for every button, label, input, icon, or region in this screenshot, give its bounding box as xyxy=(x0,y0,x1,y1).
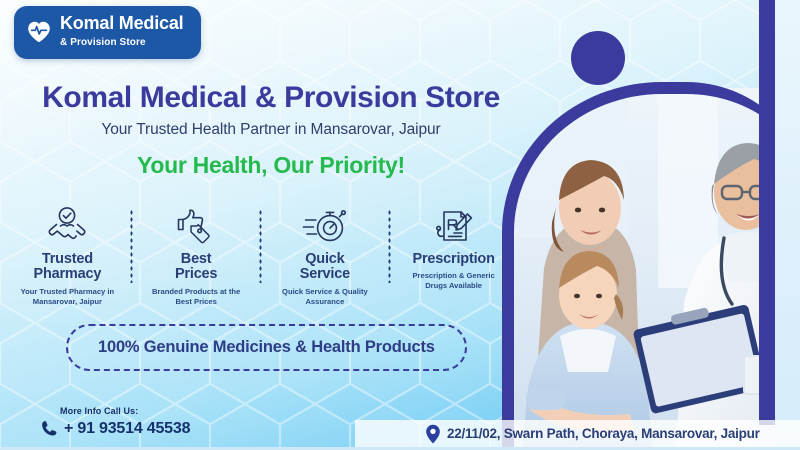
page-subtitle: Your Trusted Health Partner in Mansarova… xyxy=(16,121,526,139)
stopwatch-icon xyxy=(270,204,381,248)
thumbs-up-price-tag-icon xyxy=(141,204,252,248)
feature-desc-line2: Assurance xyxy=(305,297,344,306)
logo-line2: & Provision Store xyxy=(60,37,146,48)
feature-desc-line2: Drugs Available xyxy=(425,281,482,290)
feature-desc: Quick Service & Quality Assurance xyxy=(270,287,381,307)
feature-best-prices: Best Prices Branded Products at the Best… xyxy=(137,204,256,306)
store-address: 22/11/02, Swarn Path, Choraya, Mansarova… xyxy=(447,426,760,441)
handshake-check-icon xyxy=(12,204,123,248)
feature-divider xyxy=(127,208,137,284)
feature-title-line1: Prescription xyxy=(413,251,495,267)
feature-desc: Branded Products at the Best Prices xyxy=(141,287,252,307)
decorative-right-bar xyxy=(759,0,775,425)
call-us-block: More Info Call Us: + 91 93514 45538 xyxy=(40,406,190,438)
logo-line1: Komal Medical xyxy=(60,13,183,33)
feature-title: Trusted Pharmacy xyxy=(12,252,123,283)
feature-trusted-pharmacy: Trusted Pharmacy Your Trusted Pharmacy i… xyxy=(8,204,127,306)
feature-title-line1: Best xyxy=(181,251,212,267)
right-edge-background xyxy=(775,0,800,450)
heart-pulse-icon xyxy=(26,19,52,45)
feature-desc-line2: Mansarovar, Jaipur xyxy=(33,297,102,306)
feature-prescription: Prescription Prescription & Generic Drug… xyxy=(394,204,513,291)
pharmacist-family-photo xyxy=(508,88,800,450)
feature-desc-line1: Your Trusted Pharmacy in xyxy=(21,287,115,296)
tagline: Your Health, Our Priority! xyxy=(16,152,526,179)
phone-icon xyxy=(40,419,59,438)
address-strip: 22/11/02, Swarn Path, Choraya, Mansarova… xyxy=(355,420,800,447)
feature-desc-line1: Quick Service & Quality xyxy=(282,287,368,296)
promo-banner: Komal Medical & Provision Store Komal Me… xyxy=(0,0,800,450)
headline-block: Komal Medical & Provision Store Your Tru… xyxy=(16,82,526,179)
feature-title: Quick Service xyxy=(270,252,381,283)
feature-quick-service: Quick Service Quick Service & Quality As… xyxy=(266,204,385,306)
feature-divider xyxy=(256,208,266,284)
feature-divider xyxy=(384,208,394,284)
feature-title: Best Prices xyxy=(141,252,252,283)
features-row: Trusted Pharmacy Your Trusted Pharmacy i… xyxy=(8,204,513,306)
feature-desc-line1: Branded Products at the xyxy=(152,287,240,296)
feature-desc-line2: Best Prices xyxy=(175,297,216,306)
feature-desc: Your Trusted Pharmacy in Mansarovar, Jai… xyxy=(12,287,123,307)
feature-title-line2: Service xyxy=(300,266,350,282)
feature-title-line2: Pharmacy xyxy=(34,266,102,282)
feature-title-line1: Quick xyxy=(305,251,344,267)
feature-title-line2: Prices xyxy=(175,266,217,282)
location-pin-icon xyxy=(425,424,441,444)
feature-desc-line1: Prescription & Generic xyxy=(412,271,494,280)
feature-desc: Prescription & Generic Drugs Available xyxy=(398,271,509,291)
call-us-label: More Info Call Us: xyxy=(60,406,190,416)
feature-title: Prescription xyxy=(398,252,509,267)
prescription-pen-icon xyxy=(398,204,509,248)
feature-title-line1: Trusted xyxy=(42,251,93,267)
guarantee-badge: 100% Genuine Medicines & Health Products xyxy=(66,324,467,371)
decorative-circle xyxy=(571,31,625,85)
brand-logo[interactable]: Komal Medical & Provision Store xyxy=(14,6,201,59)
page-title: Komal Medical & Provision Store xyxy=(16,82,526,114)
phone-number[interactable]: + 91 93514 45538 xyxy=(64,420,190,438)
